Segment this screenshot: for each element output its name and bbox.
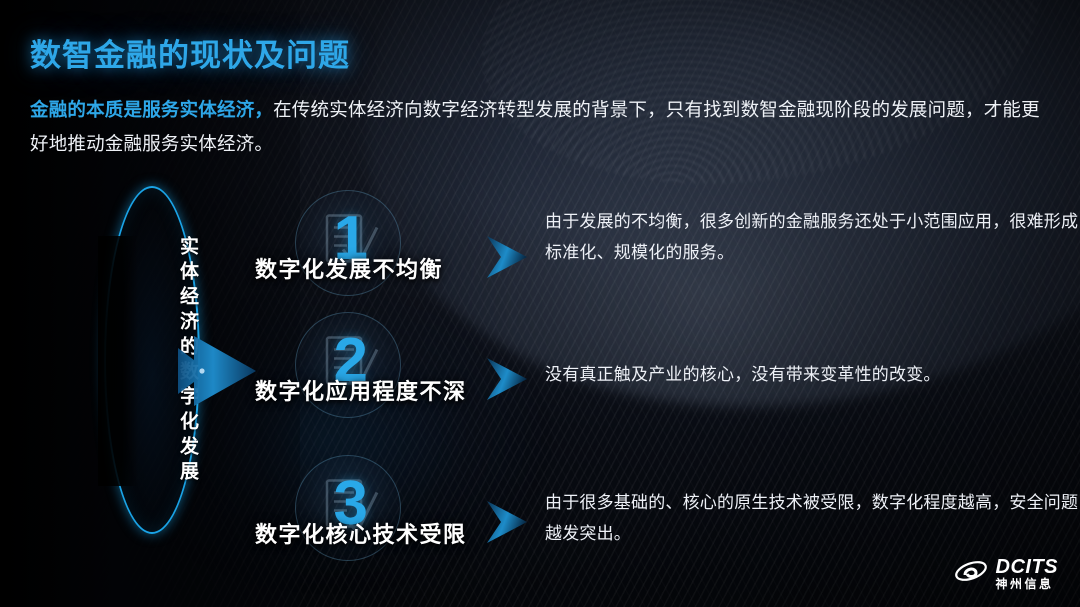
issue-title: 数字化应用程度不深 [255,374,505,406]
lede-highlight: 金融的本质是服务实体经济， [30,99,273,120]
issue-description: 由于很多基础的、核心的原生技术被受限，数字化程度越高，安全问题越发突出。 [545,487,1080,549]
chevron-right-icon [483,356,531,402]
slide: 数智金融的现状及问题 金融的本质是服务实体经济，在传统实体经济向数字经济转型发展… [0,0,1080,607]
lede-paragraph: 金融的本质是服务实体经济，在传统实体经济向数字经济转型发展的背景下，只有找到数智… [30,93,1050,161]
chevron-right-icon [483,499,531,545]
logo-name-cn: 神州信息 [996,578,1059,591]
issue-description: 没有真正触及产业的核心，没有带来变革性的改变。 [545,359,1080,390]
page-title: 数智金融的现状及问题 [30,30,350,75]
logo-text: DCITS 神州信息 [996,557,1059,591]
issue-description: 由于发展的不均衡，很多创新的金融服务还处于小范围应用，很难形成标准化、规模化的服… [545,206,1080,268]
chevron-right-icon [483,234,531,280]
orbit-logo-icon [954,556,988,591]
issue-row: 1 数字化发展不均衡 由于发展的不均衡，很多创新的金融服务还处于小范围应用，很难… [255,190,1080,310]
logo-name-en: DCITS [996,557,1059,578]
brand-logo: DCITS 神州信息 [954,556,1059,591]
flow-arrow-icon [176,332,260,410]
issue-title: 数字化发展不均衡 [255,252,505,284]
issue-title: 数字化核心技术受限 [255,517,505,549]
issue-row: 2 数字化应用程度不深 没有真正触及产业的核心，没有带来变革性的改变。 [255,312,1080,432]
